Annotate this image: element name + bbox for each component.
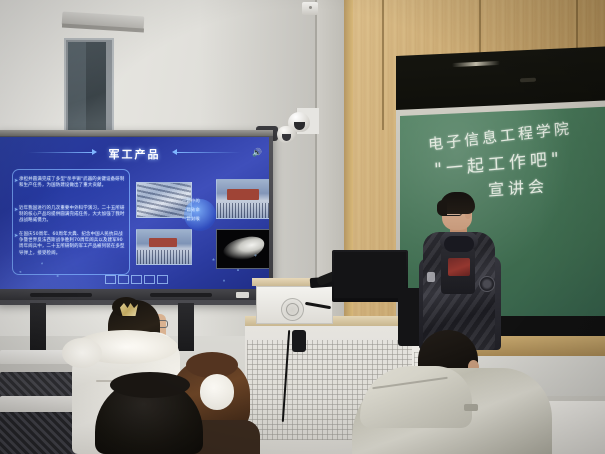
slide-bullet-1: ➤ 承担并圆满完成了多型"杀手锏"武器的关键设备研制和生产任务，为国防建设做出了… [19,177,125,189]
slide-bullet-1-text: 承担并圆满完成了多型"杀手锏"武器的关键设备研制和生产任务，为国防建设做出了重大… [19,177,124,188]
presenter-hair-side [437,200,447,216]
presenter-sleeve-label [427,272,435,282]
podium-monitor-screen[interactable] [334,252,406,298]
panel-stand-leg [30,303,46,351]
presenter-hoodie-graphic [448,258,470,276]
slide-pager[interactable] [105,275,168,284]
monitor-arm-base [292,330,306,352]
panel-vent [30,293,92,297]
circle-label-1: 一箭中的 [182,198,200,204]
pager-box[interactable] [144,275,155,284]
circle-label-3: 一箭封喉 [182,216,200,222]
window-glass-reflection [68,42,86,134]
pager-box[interactable] [157,275,168,284]
projected-slide-screen[interactable]: 军工产品 🔊 ➤ 承担并圆满完成了多型"杀手锏"武器的关键设备研制和生产任务，为… [0,137,269,289]
slide-title: 军工产品 [0,146,269,162]
panel-brand-badge [236,292,249,298]
pager-box[interactable] [131,275,142,284]
bullet-marker-icon: ➤ [14,178,18,184]
slide-bullet-2: ➤ 近年我国进行的几次重要中外科学演习，二十五所研制的核心产品均提供圆满完成任务… [19,206,125,225]
audience-2-collar [200,374,234,410]
slide-bullet-2-text: 近年我国进行的几次重要中外科学演习，二十五所研制的核心产品均提供圆满完成任务，大… [19,206,125,223]
audience-4-zipper-pull [464,404,478,411]
bullet-marker-icon: ➤ [14,207,18,213]
audience-3-hair [110,372,190,398]
parade-crowd-detail [217,203,269,218]
pager-box[interactable] [105,275,116,284]
panel-vent [150,293,212,297]
smoke-detector-led [309,6,312,9]
panel-top-bezel [0,130,273,136]
bullet-marker-icon: ➤ [14,233,18,239]
presenter-hood-interior [444,236,474,252]
parade-gate-detail [227,189,259,200]
parade-crowd-detail [137,250,191,264]
pager-box[interactable] [118,275,129,284]
recess-marking [520,78,536,83]
audience-1-fur-shoulder [62,338,102,368]
presenter-sleeve-patch [479,276,495,292]
slide-particle-decor-left [8,255,70,283]
slide-bullet-3: ➤ 在国庆50周年、60周年大典、纪念中国人民抗日战争暨世界反法西斯战争胜利70… [19,232,125,257]
slide-image-parade-bottom [136,229,192,265]
speaker-icon: 🔊 [252,149,260,156]
blackboard-line-3: 宣讲会 [488,173,549,201]
wood-panel-seam [382,0,384,130]
wood-panel-edge [344,0,353,362]
panel-stand-leg [178,303,194,351]
slide-image-parade-top [216,179,269,219]
slide-bullet-3-text: 在国庆50周年、60周年大典、纪念中国人民抗日战争暨世界反法西斯战争胜利70周年… [19,232,125,256]
classroom-scene: 电子信息工程学院 "一起工作吧" 宣讲会 军工产品 🔊 ➤ 承担并圆满完成了多型… [0,0,605,454]
circle-label-2: 一箭致命 [182,207,200,213]
parade-gate-detail [149,238,177,247]
university-emblem-inner [286,303,299,316]
